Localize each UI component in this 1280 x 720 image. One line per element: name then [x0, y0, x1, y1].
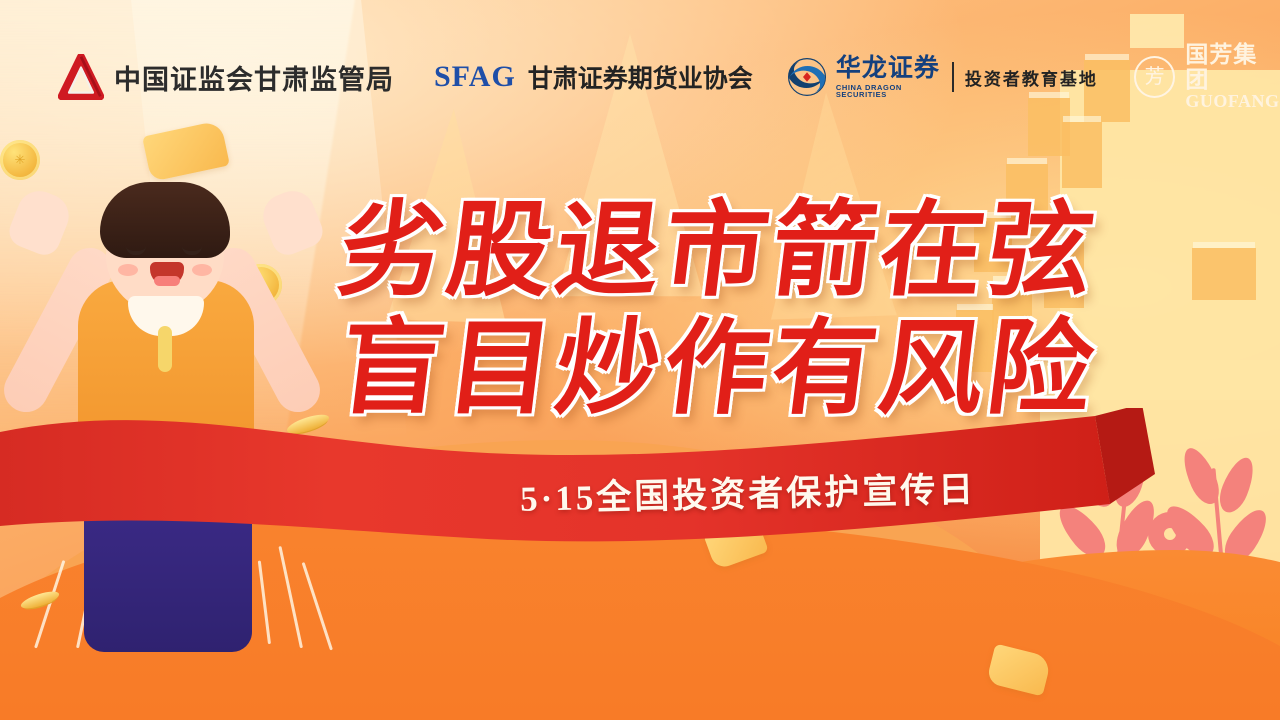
- csrc-title: 中国证监会甘肃监管局: [114, 58, 394, 97]
- csrc-triangle-logo-icon: [58, 54, 104, 100]
- logo-sfag: SFAG 甘肃证券期货业协会: [434, 59, 753, 95]
- guofang-name-en: GUOFANG: [1185, 92, 1280, 111]
- hualong-name-en: CHINA DRAGON SECURITIES: [836, 84, 941, 99]
- poster-canvas: 中国证监会甘肃监管局 SFAG 甘肃证券期货业协会 华龙证券 CHINA DRA…: [0, 0, 1280, 720]
- right-hill: [720, 550, 1280, 720]
- sponsor-logo-bar: 中国证监会甘肃监管局 SFAG 甘肃证券期货业协会 华龙证券 CHINA DRA…: [0, 46, 1280, 108]
- guofang-name-cn: 国芳集团: [1185, 43, 1280, 91]
- hualong-name-cn: 华龙证券: [836, 56, 941, 81]
- logo-china-dragon-securities: 华龙证券 CHINA DRAGON SECURITIES 投资者教育基地: [787, 56, 1098, 99]
- ribbon-slogan: 5·15全国投资者保护宣传日: [520, 461, 977, 522]
- hualong-wave-logo-icon: [787, 57, 827, 97]
- logo-divider: [952, 62, 954, 92]
- raised-hand-icon: [5, 184, 76, 259]
- cream-cube-block-icon: [1114, 625, 1172, 687]
- character-placket: [158, 326, 172, 372]
- flying-banknote-icon: [986, 644, 1052, 697]
- logo-csrc-gansu: 中国证监会甘肃监管局: [58, 54, 394, 100]
- character-hair: [100, 182, 230, 258]
- guofang-seal-glyph: 芳: [1145, 67, 1165, 87]
- poster-headline: 劣股退市箭在弦 盲目炒作有风险: [340, 196, 1080, 427]
- sfag-title: 甘肃证券期货业协会: [528, 59, 753, 95]
- headline-line-1: 劣股退市箭在弦: [333, 196, 1087, 308]
- character-smile: [150, 262, 184, 286]
- guofang-name-block: 国芳集团 GUOFANG: [1185, 43, 1280, 110]
- character-cheek-right: [192, 264, 212, 276]
- celebrating-investor-character: [0, 130, 330, 650]
- character-cheek-left: [118, 264, 138, 276]
- hualong-name-block: 华龙证券 CHINA DRAGON SECURITIES: [836, 56, 941, 99]
- guofang-seal-logo-icon: 芳: [1134, 56, 1175, 98]
- logo-guofang-group: 芳 国芳集团 GUOFANG: [1134, 43, 1280, 110]
- sfag-abbreviation: SFAG: [434, 60, 516, 94]
- investor-education-base-label: 投资者教育基地: [965, 65, 1098, 90]
- raised-hand-icon: [257, 184, 328, 259]
